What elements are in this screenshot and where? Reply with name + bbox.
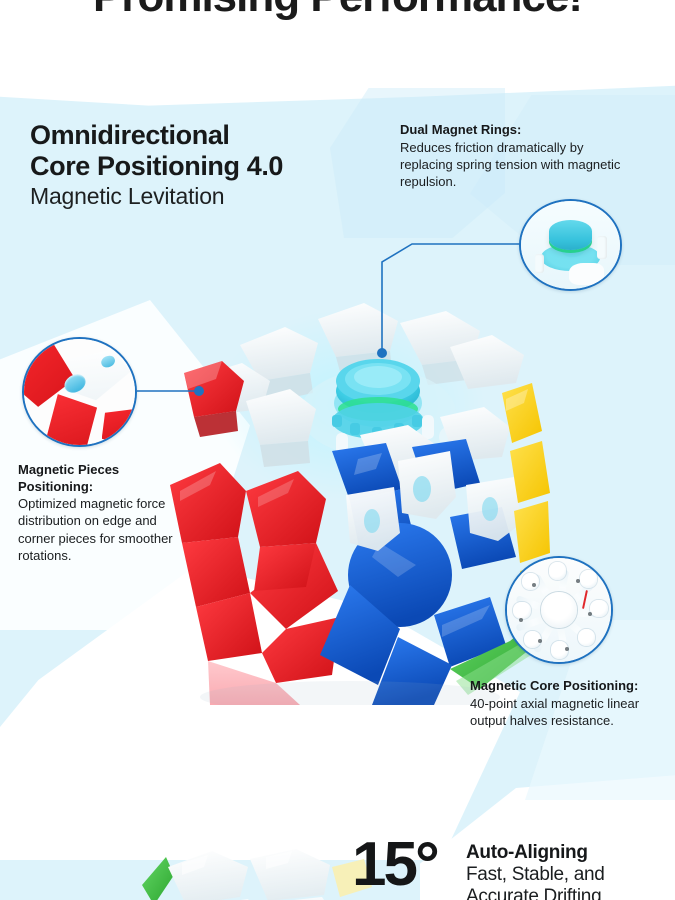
core-pod [522, 573, 540, 591]
core-pod [578, 629, 596, 647]
banner-title: Promising Performance! [0, 0, 675, 22]
auto-aligning-text-block: Auto-Aligning Fast, Stable, and Accurate… [466, 842, 675, 900]
magnifier-magnetic-core [505, 556, 613, 664]
cube-face-red [170, 463, 340, 705]
page-title: Omnidirectional Core Positioning 4.0 Mag… [30, 120, 370, 211]
callout-title: Magnetic Pieces Positioning: [18, 462, 178, 495]
dual-white-tab [569, 263, 605, 286]
core-fleck [532, 583, 536, 587]
core-fleck [565, 647, 569, 651]
callout-title: Magnetic Core Positioning: [470, 678, 675, 695]
auto-aligning-line-1: Fast, Stable, and [466, 864, 675, 886]
dual-magnet-rings-detail-art [521, 201, 620, 289]
auto-aligning-title: Auto-Aligning [466, 842, 675, 864]
dual-post-right [597, 236, 607, 259]
bottom-cube-illustration [120, 845, 380, 900]
piece-red-lower [44, 394, 102, 447]
magnetic-pieces-detail-art [24, 339, 135, 445]
core-pod [590, 600, 608, 618]
heading-line-1: Omnidirectional [30, 120, 370, 151]
magnifier-dual-magnet-rings [519, 199, 622, 291]
callout-body: 40-point axial magnetic linear output ha… [470, 695, 675, 729]
magnetic-core-detail-art [507, 558, 611, 662]
core-pod [580, 570, 598, 588]
heading-subtitle: Magnetic Levitation [30, 183, 370, 211]
callout-dual-magnet-rings: Dual Magnet Rings: Reduces friction dram… [400, 122, 635, 190]
core-pod [549, 562, 567, 580]
callout-body: Reduces friction dramatically by replaci… [400, 139, 635, 190]
auto-aligning-line-2: Accurate Drifting [466, 886, 675, 900]
piece-red-upper [22, 343, 75, 407]
core-fleck [576, 579, 580, 583]
core-hub [541, 592, 576, 627]
callout-body: Optimized magnetic force distribution on… [18, 495, 178, 564]
heading-line-2: Core Positioning 4.0 [30, 151, 370, 182]
magnifier-magnetic-pieces [22, 337, 137, 447]
auto-aligning-angle-value: 15° [352, 834, 437, 896]
callout-magnetic-core-positioning: Magnetic Core Positioning: 40-point axia… [470, 678, 675, 729]
dual-magnet-puck-shape [549, 220, 593, 250]
piece-red-corner [102, 409, 135, 447]
core-pod [513, 602, 531, 620]
dual-post-left [535, 254, 544, 273]
megaminx-cube-illustration [150, 285, 550, 705]
infographic-canvas: Promising Performance! Omnidirectional C… [0, 0, 675, 900]
callout-magnetic-pieces-positioning: Magnetic Pieces Positioning: Optimized m… [18, 462, 178, 564]
callout-title: Dual Magnet Rings: [400, 122, 635, 139]
